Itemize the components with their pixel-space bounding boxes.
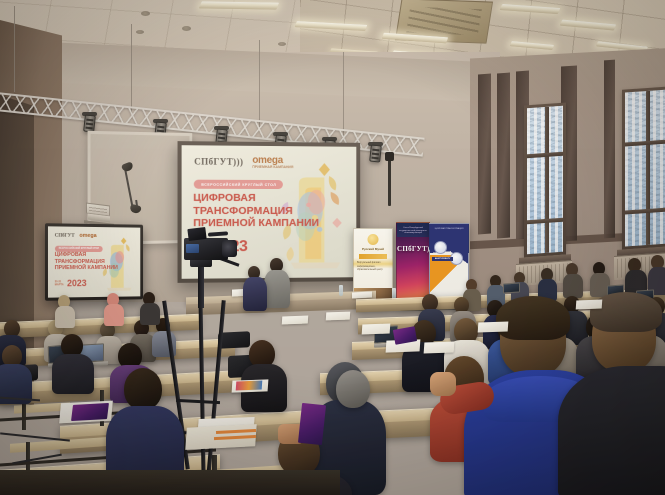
tv-spbgut-logo: СПбГУТ bbox=[55, 233, 75, 238]
window-glass bbox=[625, 89, 665, 246]
slide-title-line-2: ТРАНСФОРМАЦИЯ bbox=[193, 204, 319, 217]
tv-logo-group: СПбГУТ omega bbox=[55, 233, 97, 239]
tv-title: ЦИФРОВАЯ ТРАНСФОРМАЦИЯ ПРИЕМНОЙ КАМПАНИИ bbox=[55, 252, 118, 272]
slide-title: ЦИФРОВАЯ ТРАНСФОРМАЦИЯ ПРИЕМНОЙ КАМПАНИИ bbox=[193, 192, 319, 230]
tv-monitor-slide: СПбГУТ omega ВСЕРОССИЙСКИЙ КРУГЛЫЙ СТОЛ … bbox=[48, 226, 140, 297]
ceiling-light-tube bbox=[199, 1, 279, 9]
slide-logo-group: СПбГУТ))) omega ПРИЕМНАЯ КАМПАНИЯ bbox=[194, 155, 293, 170]
tv-date: 30-31 МАРТА bbox=[55, 280, 64, 286]
omega-logo-sub: ПРИЕМНАЯ КАМПАНИЯ bbox=[252, 166, 293, 170]
ceiling-downlight bbox=[182, 26, 191, 31]
camera-viewfinder bbox=[187, 227, 206, 241]
window-left bbox=[524, 103, 566, 258]
water-bottle bbox=[339, 285, 343, 296]
camera-lcd-screen bbox=[186, 244, 199, 253]
tripod-column bbox=[198, 264, 204, 308]
hand bbox=[430, 372, 456, 396]
banner-1-title: Русский Музей bbox=[354, 247, 392, 251]
microphone-head bbox=[385, 152, 394, 161]
microphone-stand bbox=[388, 158, 391, 206]
colorful-brochure bbox=[236, 381, 263, 391]
paper-on-desk bbox=[424, 341, 455, 353]
floor bbox=[0, 470, 340, 495]
camera-lens bbox=[222, 240, 237, 257]
banner-3-caption: ЦИФРОВАЯ ТРАНСФОРМАЦИЯ bbox=[432, 228, 465, 230]
banner-1-headline: Виртуальный филиал информационно-образов… bbox=[357, 262, 389, 272]
ceiling-downlight bbox=[278, 42, 286, 46]
banner-3-photo-circle bbox=[434, 241, 447, 254]
tv-date-month: МАРТА bbox=[55, 283, 64, 286]
tv-title-line-3: ПРИЕМНОЙ КАМПАНИИ bbox=[55, 265, 118, 272]
banner-1-bar bbox=[359, 254, 388, 259]
purple-brochure bbox=[71, 403, 109, 421]
truss-suspension-wire bbox=[14, 6, 15, 92]
banner-2-caption: Санкт-Петербургский государственный унив… bbox=[399, 227, 428, 235]
slide-title-line-3: ПРИЕМНОЙ КАМПАНИИ bbox=[193, 217, 319, 230]
conference-photo: СПбГУТ))) omega ПРИЕМНАЯ КАМПАНИЯ ВСЕРОС… bbox=[0, 0, 665, 495]
sun-icon bbox=[368, 234, 379, 245]
wall-pilaster bbox=[604, 60, 615, 239]
banner-2-logo: СПбГУТ))) bbox=[397, 245, 429, 253]
bench-leg bbox=[22, 400, 26, 430]
tv-badge: ВСЕРОССИЙСКИЙ КРУГЛЫЙ СТОЛ bbox=[55, 246, 103, 252]
banner-3-badge: АБИТУРИЕНТУ bbox=[432, 257, 453, 261]
paper-on-desk bbox=[478, 321, 509, 332]
tv-monitor: СПбГУТ omega ВСЕРОССИЙСКИЙ КРУГЛЫЙ СТОЛ … bbox=[45, 223, 143, 301]
ceiling-downlight bbox=[141, 11, 150, 16]
window-blinds bbox=[625, 89, 665, 246]
purple-folder bbox=[298, 403, 326, 445]
tv-omega-logo: omega bbox=[79, 233, 96, 239]
truss-suspension-wire bbox=[259, 40, 260, 128]
banner-1-body: Виртуальный филиал информационно-образов… bbox=[357, 262, 389, 272]
slide-badge: ВСЕРОССИЙСКИЙ КРУГЛЫЙ СТОЛ bbox=[194, 180, 283, 189]
paper-on-desk bbox=[326, 312, 351, 321]
ceiling-downlight bbox=[136, 30, 144, 34]
omega-logo: omega ПРИЕМНАЯ КАМПАНИЯ bbox=[252, 155, 293, 170]
tv-title-line-1: ЦИФРОВАЯ bbox=[55, 252, 118, 259]
truss-suspension-wire bbox=[343, 52, 344, 138]
spbgut-logo: СПбГУТ))) bbox=[194, 157, 243, 167]
paper-on-desk bbox=[576, 300, 603, 310]
tv-year: 2023 bbox=[67, 278, 87, 288]
window-glass bbox=[527, 106, 563, 255]
paper-on-desk bbox=[362, 323, 391, 334]
wall-pilaster bbox=[497, 73, 510, 239]
wall-pilaster bbox=[478, 74, 491, 235]
slide-title-line-1: ЦИФРОВАЯ bbox=[193, 192, 319, 205]
window-right bbox=[622, 86, 665, 249]
paper-on-desk bbox=[282, 316, 309, 325]
truss-suspension-wire bbox=[131, 24, 132, 112]
